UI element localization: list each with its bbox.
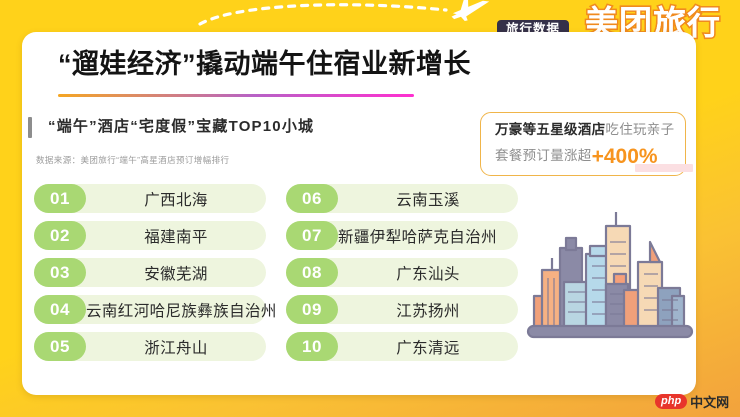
rank-badge: 03 — [34, 258, 86, 287]
ranking-row: 01广西北海 — [34, 184, 284, 213]
ranking-column-right: 06云南玉溪07新疆伊犁哈萨克自治州08广东汕头09江苏扬州10广东清远 — [286, 184, 536, 369]
callout-line-1: 万豪等五星级酒店吃住玩亲子 — [495, 122, 674, 138]
callout-rest-text: 吃住玩亲子 — [605, 122, 674, 137]
rank-badge: 05 — [34, 332, 86, 361]
ranking-column-left: 01广西北海02福建南平03安徽芜湖04云南红河哈尼族彝族自治州05浙江舟山 — [34, 184, 284, 369]
subtitle-accent-bar — [28, 117, 32, 138]
php-logo-badge: php — [655, 394, 687, 410]
callout-gray-text: 套餐预订量涨超 — [495, 148, 592, 163]
city-name: 新疆伊犁哈萨克自治州 — [332, 221, 538, 250]
rank-badge: 10 — [286, 332, 338, 361]
ranking-row: 02福建南平 — [34, 221, 284, 250]
subtitle: “端午”酒店“宅度假”宝藏TOP10小城 — [48, 116, 314, 137]
watermark: php 中文网 — [655, 392, 729, 411]
rank-badge: 01 — [34, 184, 86, 213]
rank-badge: 08 — [286, 258, 338, 287]
city-name: 广西北海 — [86, 184, 266, 213]
city-name: 广东清远 — [338, 332, 518, 361]
city-name: 福建南平 — [86, 221, 266, 250]
city-name: 安徽芜湖 — [86, 258, 266, 287]
callout-line-2: 套餐预订量涨超+400% — [495, 144, 658, 169]
growth-highlight-bar — [635, 164, 693, 172]
watermark-site-name: 中文网 — [690, 392, 729, 411]
ranking-row: 10广东清远 — [286, 332, 536, 361]
ranking-row: 06云南玉溪 — [286, 184, 536, 213]
ranking-row: 09江苏扬州 — [286, 295, 536, 324]
city-name: 广东汕头 — [338, 258, 518, 287]
city-skyline-illustration — [520, 208, 696, 353]
rank-badge: 09 — [286, 295, 338, 324]
rank-badge: 06 — [286, 184, 338, 213]
city-name: 云南玉溪 — [338, 184, 518, 213]
ranking-row: 04云南红河哈尼族彝族自治州 — [34, 295, 284, 324]
content-card: “遛娃经济”撬动端午住宿业新增长 “端午”酒店“宅度假”宝藏TOP10小城 数据… — [22, 32, 696, 395]
highlight-callout: 万豪等五星级酒店吃住玩亲子 套餐预订量涨超+400% — [480, 112, 686, 176]
subtitle-row: “端午”酒店“宅度假”宝藏TOP10小城 — [28, 114, 498, 144]
infographic-poster: 旅行数据 美团旅行 美团旅行 “遛娃经济”撬动端午住宿业新增长 “端午”酒店“宅… — [0, 0, 740, 417]
city-name: 江苏扬州 — [338, 295, 518, 324]
ranking-row: 03安徽芜湖 — [34, 258, 284, 287]
data-source-note: 数据来源：美团旅行“端午”高星酒店预订增幅排行 — [36, 154, 229, 166]
rank-badge: 04 — [34, 295, 86, 324]
rank-badge: 02 — [34, 221, 86, 250]
title-underline — [58, 94, 414, 97]
ranking-row: 08广东汕头 — [286, 258, 536, 287]
city-name: 云南红河哈尼族彝族自治州 — [80, 295, 286, 324]
airplane-icon — [196, 0, 496, 34]
city-name: 浙江舟山 — [86, 332, 266, 361]
callout-bold-text: 万豪等五星级酒店 — [495, 122, 605, 137]
page-title: “遛娃经济”撬动端午住宿业新增长 — [58, 51, 471, 78]
rank-badge: 07 — [286, 221, 338, 250]
ranking-row: 07新疆伊犁哈萨克自治州 — [286, 221, 536, 250]
ranking-row: 05浙江舟山 — [34, 332, 284, 361]
